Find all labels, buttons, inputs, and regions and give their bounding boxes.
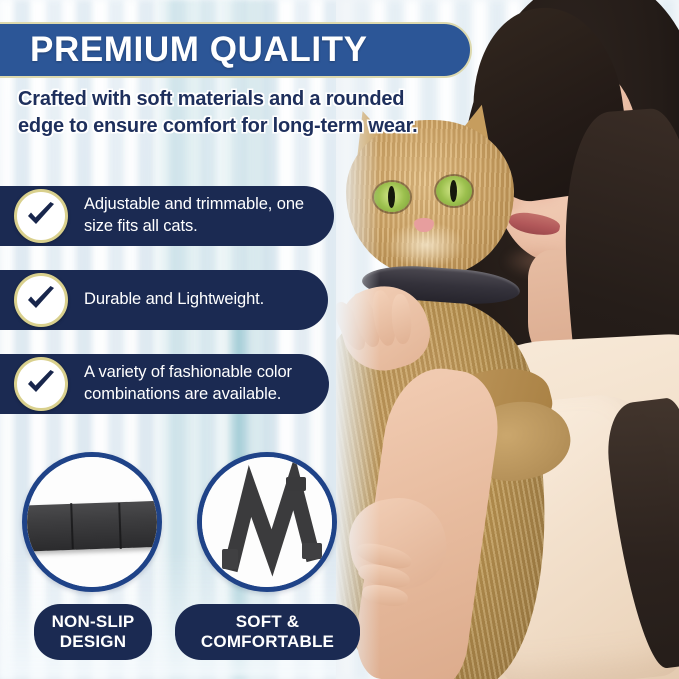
subtitle-text: Crafted with soft materials and a rounde…: [18, 86, 438, 140]
cat-pupil-left: [388, 186, 395, 208]
feature-label: Adjustable and trimmable, one size fits …: [84, 194, 334, 238]
cat-pupil-right: [450, 180, 457, 202]
feature-label: Durable and Lightweight.: [84, 289, 276, 311]
highlight-image-circle: [22, 452, 162, 592]
product-infographic: PREMIUM QUALITY Crafted with soft materi…: [0, 0, 679, 679]
highlight-label: SOFT & COMFORTABLE: [175, 604, 360, 660]
page-title: PREMIUM QUALITY: [30, 30, 368, 70]
check-icon: [14, 357, 68, 411]
feature-pill-2: Durable and Lightweight.: [0, 270, 328, 330]
flat-strap-photo: [22, 500, 162, 552]
feature-pill-3: A variety of fashionable color combinati…: [0, 354, 329, 414]
check-icon: [14, 273, 68, 327]
feature-pill-1: Adjustable and trimmable, one size fits …: [0, 186, 334, 246]
highlight-non-slip: NON-SLIP DESIGN: [22, 452, 162, 592]
highlight-label: NON-SLIP DESIGN: [34, 604, 152, 660]
premium-quality-banner: PREMIUM QUALITY: [0, 22, 472, 78]
check-icon: [14, 189, 68, 243]
highlight-soft-comfortable: SOFT & COMFORTABLE: [197, 452, 337, 592]
folded-collar-photo: [202, 457, 337, 592]
feature-label: A variety of fashionable color combinati…: [84, 362, 329, 406]
highlight-image-circle: [197, 452, 337, 592]
